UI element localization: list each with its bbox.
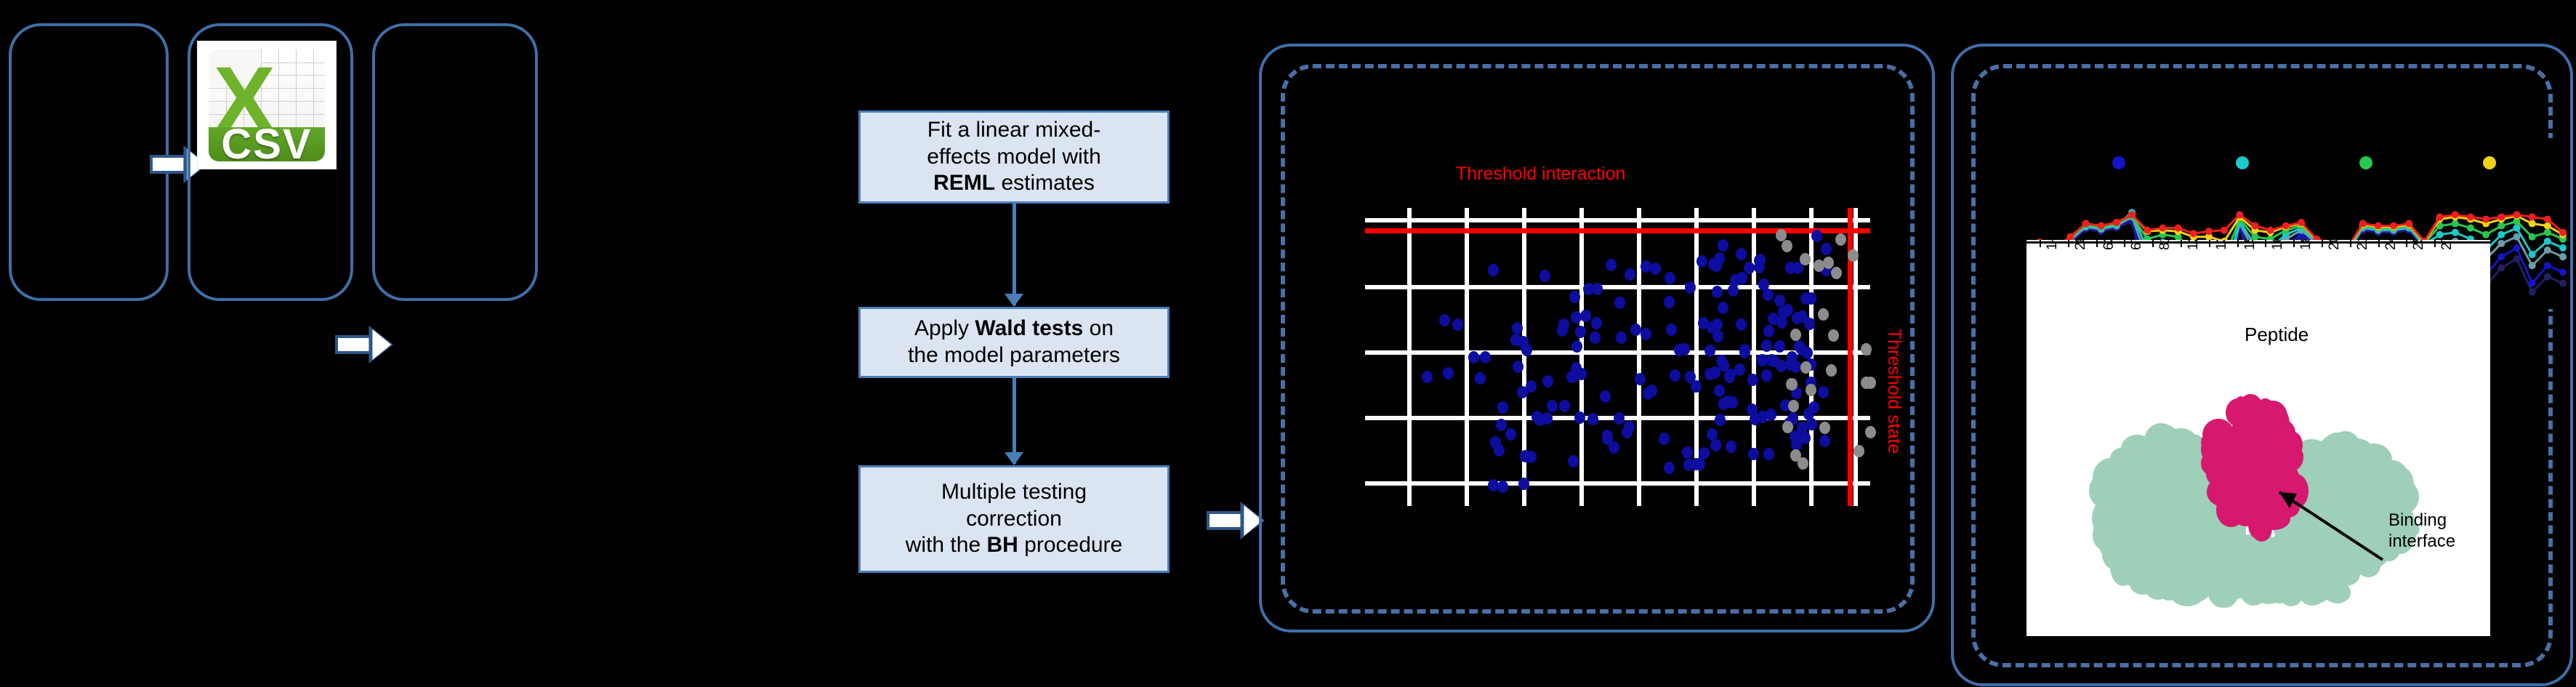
- chart-series-point: [2159, 225, 2166, 232]
- scatter-point: [1818, 308, 1829, 321]
- peptide-axis-tick: [2068, 240, 2069, 247]
- scatter-point: [1704, 345, 1715, 357]
- scatter-point: [1761, 369, 1772, 382]
- chart-series-point: [2544, 246, 2551, 254]
- scatter-point: [1571, 362, 1582, 374]
- scatter-point: [1750, 413, 1760, 425]
- binding-label-line2: interface: [2388, 531, 2455, 553]
- scatter-point: [1547, 400, 1558, 412]
- scatter-point: [1518, 478, 1529, 490]
- bh-post: procedure: [1018, 533, 1122, 557]
- scatter-point: [1517, 386, 1528, 398]
- scatter-point: [1800, 361, 1811, 374]
- scatter-point: [1531, 411, 1542, 423]
- peptide-axis-title: Peptide: [2245, 324, 2309, 346]
- chart-series-point: [2559, 280, 2567, 287]
- scatter-point: [1682, 446, 1693, 459]
- chart-series-point: [2267, 227, 2274, 234]
- scatter-point: [1580, 310, 1591, 322]
- scatter-point: [1814, 260, 1824, 272]
- scatter-point: [1670, 369, 1681, 382]
- arrow-shaft: [1207, 511, 1243, 530]
- scatter-point: [1569, 291, 1580, 303]
- scatter-point: [1714, 252, 1725, 265]
- chart-series-point: [2452, 220, 2459, 228]
- chart-series-point: [2497, 240, 2505, 247]
- arrow-shaft: [150, 155, 186, 174]
- peptide-axis-label: 218-237: [2355, 240, 2371, 250]
- chart-series-point: [2529, 262, 2536, 269]
- scatter-point: [1592, 283, 1603, 295]
- scatter-point: [1714, 385, 1725, 397]
- scatter-point: [1782, 421, 1793, 433]
- scatter-point: [1754, 261, 1765, 273]
- peptide-axis-label: 28-44: [2073, 240, 2089, 250]
- scatter-point: [1616, 332, 1627, 344]
- scatter-point: [1763, 325, 1774, 337]
- chart-series-point: [2482, 231, 2490, 238]
- figure-canvas: X CSV Fit a linear mixed- effects model …: [0, 0, 2576, 687]
- reml-bold: REML: [933, 171, 995, 195]
- scatter-point: [1664, 462, 1675, 474]
- scatter-point: [1587, 413, 1598, 425]
- connector-arrowhead-bh: [1005, 452, 1023, 465]
- chart-series-point: [2529, 251, 2536, 258]
- chart-series-point: [2436, 213, 2444, 220]
- chart-series-point: [2359, 220, 2367, 228]
- chart-series-point: [2221, 227, 2228, 234]
- scatter-point: [1787, 378, 1798, 390]
- chart-series-point: [2529, 233, 2536, 241]
- threshold-interaction-label: Threshold interaction: [1456, 164, 1625, 185]
- scatter-point: [1774, 340, 1785, 353]
- chart-series-point: [2544, 262, 2551, 269]
- peptide-axis-label: 200-214: [2327, 240, 2343, 250]
- scatter-point: [1480, 351, 1491, 363]
- scatter-point: [1790, 329, 1801, 341]
- scatter-point: [1606, 259, 1617, 271]
- chart-series-point: [2098, 222, 2105, 230]
- reml-line-1: Fit a linear mixed-: [927, 118, 1100, 142]
- csv-icon-body: X CSV: [209, 49, 325, 161]
- binding-label-line1: Binding: [2388, 510, 2455, 531]
- scatter-point: [1664, 296, 1675, 308]
- threshold-scatter-plot: [1365, 208, 1870, 506]
- chart-series-point: [2497, 213, 2505, 220]
- chart-series-point: [2082, 220, 2090, 228]
- chart-series-point: [2544, 229, 2551, 236]
- scatter-point: [1712, 286, 1723, 298]
- wald-bold: Wald tests: [975, 316, 1083, 340]
- scatter-point: [1497, 401, 1508, 414]
- scatter-point: [1748, 448, 1759, 460]
- chart-series-point: [2452, 211, 2459, 218]
- chart-series-point: [2236, 211, 2243, 218]
- scatter-point: [1744, 262, 1755, 274]
- stage-input-box: [9, 23, 169, 301]
- chart-series-point: [2559, 268, 2567, 276]
- chart-series-point: [2452, 229, 2459, 236]
- scatter-point: [1439, 314, 1450, 326]
- scatter-point: [1826, 364, 1837, 377]
- peptide-axis-label: 277-284: [2439, 240, 2455, 250]
- chart-series-point: [2113, 219, 2120, 226]
- scatter-point: [1696, 255, 1707, 268]
- scatter-point: [1776, 316, 1787, 329]
- chart-series-point: [2436, 231, 2444, 238]
- chart-series-point: [2513, 244, 2520, 252]
- scatter-point: [1574, 411, 1585, 424]
- chart-series-point: [2467, 213, 2474, 220]
- scatter-point: [1848, 249, 1859, 262]
- peptide-axis-label: 1-15: [2045, 240, 2061, 250]
- connector-wald-to-bh: [1013, 378, 1016, 464]
- scatter-point: [1512, 322, 1523, 334]
- scatter-point: [1763, 448, 1774, 460]
- reml-line-3-tail: estimates: [995, 171, 1095, 195]
- scatter-point: [1819, 435, 1830, 447]
- scatter-point: [1790, 449, 1801, 462]
- scatter-point: [1823, 257, 1834, 269]
- wald-line-2: the model parameters: [908, 343, 1120, 367]
- connector-reml-to-wald: [1013, 204, 1016, 305]
- peptide-axis-label: 167-180: [2270, 240, 2286, 250]
- scatter-point: [1497, 481, 1508, 493]
- chart-series-point: [2529, 213, 2536, 220]
- chart-series-point: [2513, 211, 2520, 218]
- scatter-point: [1614, 412, 1625, 425]
- peptide-axis-label: 67-75: [2129, 240, 2145, 250]
- scatter-point: [1641, 328, 1651, 340]
- scatter-point: [1505, 428, 1516, 441]
- chart-series-point: [2544, 222, 2551, 230]
- bh-bold: BH: [986, 533, 1018, 557]
- arrow-head-fill: [372, 329, 391, 360]
- scatter-point: [1718, 239, 1728, 252]
- chart-series-point: [2544, 273, 2551, 281]
- scatter-point: [1542, 375, 1553, 387]
- scatter-point: [1747, 374, 1758, 386]
- scatter-point: [1800, 292, 1811, 305]
- protein-surface: [2070, 360, 2448, 607]
- peptide-axis-label: 122-129: [2186, 240, 2202, 250]
- scatter-point: [1716, 355, 1727, 367]
- peptide-axis-tick: [2152, 240, 2154, 247]
- peptide-axis-tick: [2181, 240, 2182, 247]
- scatter-point: [1452, 318, 1463, 331]
- chart-series-point: [2482, 215, 2490, 222]
- peptide-axis-tick: [2293, 240, 2295, 247]
- step-box-bh-text: Multiple testing correction with the BH …: [906, 479, 1123, 559]
- scatter-point: [1659, 433, 1670, 445]
- scatter-point: [1496, 419, 1507, 431]
- peptide-axis-tick: [2406, 240, 2407, 247]
- scatter-point: [1802, 347, 1813, 359]
- scatter-point: [1422, 371, 1433, 383]
- scatter-point: [1835, 233, 1846, 246]
- scatter-point: [1806, 384, 1816, 396]
- csv-band-label: CSV: [221, 120, 312, 161]
- peptide-axis-tick: [2265, 240, 2266, 247]
- chart-series-point: [2544, 215, 2551, 222]
- step-box-wald: Apply Wald tests on the model parameters: [858, 307, 1170, 378]
- connector-arrowhead-wald: [1005, 294, 1023, 307]
- scatter-point: [1591, 317, 1602, 329]
- chart-series-point: [2298, 219, 2305, 226]
- chart-series-point: [2144, 227, 2151, 234]
- scatter-point: [1475, 372, 1486, 385]
- scatter-point: [1575, 326, 1586, 338]
- protein-structure-card: 0.0 1-1528-4463-7367-7581-101122-129135-…: [2026, 240, 2490, 636]
- chart-series-point: [2282, 222, 2290, 230]
- chart-series-point: [2175, 225, 2182, 232]
- chart-series-point: [2128, 211, 2136, 218]
- step-box-wald-text: Apply Wald tests on the model parameters: [908, 316, 1120, 369]
- scatter-point: [1804, 318, 1815, 330]
- peptide-axis-label: 63-73: [2101, 240, 2117, 250]
- scatter-point: [1559, 400, 1570, 412]
- chart-series-point: [2390, 222, 2397, 230]
- scatter-point: [1736, 318, 1747, 331]
- bh-pre: with the: [906, 533, 987, 557]
- chart-series-point: [2529, 220, 2536, 228]
- scatter-point: [1650, 262, 1661, 275]
- scatter-point: [1800, 253, 1811, 265]
- step-box-reml-text: Fit a linear mixed- effects model with R…: [927, 117, 1101, 197]
- scatter-point: [1761, 340, 1772, 352]
- stage-analysis-box: [372, 23, 538, 301]
- wald-post: on: [1083, 316, 1114, 340]
- scatter-point: [1635, 373, 1646, 385]
- scatter-point: [1643, 387, 1654, 400]
- scatter-point: [1443, 367, 1454, 379]
- arrow-model-to-results: [1207, 502, 1265, 539]
- scatter-point: [1788, 400, 1799, 412]
- scatter-point: [1539, 270, 1550, 282]
- peptide-axis-label: 158-166: [2242, 240, 2258, 250]
- scatter-point: [1710, 439, 1721, 451]
- peptide-axis-tick: [2350, 240, 2351, 247]
- scatter-point: [1736, 248, 1747, 260]
- scatter-point: [1715, 414, 1726, 426]
- peptide-axis-label: 81-101: [2157, 240, 2173, 250]
- scatter-point: [1757, 354, 1768, 366]
- scatter-point: [1831, 267, 1842, 279]
- peptide-axis-label: 135-144: [2214, 240, 2230, 250]
- bh-line-1: Multiple testing: [941, 480, 1087, 504]
- chart-series-point: [2544, 238, 2551, 245]
- scatter-point: [1685, 281, 1696, 294]
- scatter-point: [1468, 351, 1479, 363]
- threshold-state-label: Threshold state: [1883, 329, 1904, 454]
- scatter-point: [1513, 361, 1524, 373]
- scatter-point: [1600, 390, 1611, 403]
- peptide-axis-tick: [2434, 240, 2436, 247]
- scatter-point: [1614, 297, 1625, 309]
- bh-line-2: correction: [966, 507, 1062, 531]
- scatter-point: [1558, 318, 1569, 331]
- chart-series-point: [2251, 222, 2258, 230]
- step-box-reml: Fit a linear mixed- effects model with R…: [858, 111, 1170, 204]
- chart-series-point: [2497, 264, 2505, 271]
- scatter-point: [1865, 426, 1876, 438]
- peptide-axis-tick: [2040, 240, 2041, 247]
- chart-series-point: [2497, 253, 2505, 260]
- scatter-point: [1630, 324, 1641, 336]
- scatter-point: [1811, 230, 1822, 242]
- reml-line-2: effects model with: [927, 145, 1101, 169]
- peptide-axis-tick: [2322, 240, 2323, 247]
- scatter-point: [1622, 426, 1633, 438]
- scatter-point: [1718, 302, 1728, 314]
- peptide-axis-tick: [2237, 240, 2239, 247]
- csv-x-letter: X: [214, 54, 265, 112]
- peptide-axis-tick: [2378, 240, 2380, 247]
- scatter-point: [1704, 368, 1715, 380]
- scatter-point: [1819, 422, 1830, 434]
- csv-file-icon: X CSV: [198, 41, 336, 169]
- scatter-point: [1787, 351, 1798, 363]
- peptide-axis-label: 241-257: [2383, 240, 2399, 250]
- chart-series-point: [2375, 222, 2382, 230]
- scatter-point: [1828, 329, 1839, 342]
- threshold-interaction-line: [1365, 228, 1870, 233]
- scatter-point: [1734, 363, 1745, 376]
- scatter-point: [1782, 240, 1792, 252]
- chart-series-point: [2205, 228, 2213, 235]
- scatter-point: [1818, 386, 1829, 398]
- scatter-point: [1806, 418, 1817, 430]
- binding-arrow: [2070, 360, 2448, 607]
- scatter-point: [1861, 343, 1872, 355]
- scatter-point: [1568, 455, 1579, 467]
- chart-series-point: [2513, 225, 2520, 232]
- scatter-point: [1488, 264, 1499, 276]
- scatter-point: [1808, 401, 1819, 414]
- chart-series-point: [2405, 220, 2412, 228]
- scatter-point: [1821, 243, 1832, 255]
- arrow-csv-to-model: [335, 326, 393, 363]
- scatter-point: [1691, 380, 1702, 393]
- chart-series-point: [2467, 225, 2474, 232]
- peptide-axis-tick: [2124, 240, 2125, 247]
- chart-series-point: [2529, 289, 2536, 296]
- scatter-point: [1727, 396, 1738, 409]
- scatter-point: [1726, 441, 1736, 453]
- peptide-axis-label: 184-199: [2298, 240, 2314, 250]
- step-box-bh: Multiple testing correction with the BH …: [858, 465, 1170, 573]
- scatter-point: [1590, 332, 1601, 344]
- scatter-point: [1707, 428, 1718, 441]
- scatter-point: [1758, 278, 1769, 291]
- binding-interface-label: Binding interface: [2388, 510, 2455, 553]
- scatter-point: [1518, 336, 1529, 348]
- scatter-point: [1666, 324, 1677, 336]
- chart-series-point: [2497, 231, 2505, 238]
- peptide-axis-tick: [2209, 240, 2210, 247]
- chart-series-point: [2559, 253, 2567, 260]
- scatter-point: [1792, 435, 1803, 447]
- peptide-axis-tick: [2096, 240, 2098, 247]
- csv-label-band: CSV: [209, 127, 325, 161]
- arrow-shaft: [335, 335, 371, 354]
- chart-series-point: [2559, 244, 2567, 252]
- wald-pre: Apply: [914, 316, 975, 340]
- scatter-point: [1739, 346, 1750, 358]
- chart-series-point: [2190, 230, 2197, 237]
- chart-series-point: [2559, 229, 2567, 236]
- scatter-point: [1699, 447, 1710, 459]
- chart-series-point: [2529, 280, 2536, 287]
- scatter-point: [1665, 272, 1675, 284]
- scatter-point: [1625, 268, 1635, 281]
- peptide-axis-label: 258-266: [2411, 240, 2427, 250]
- chart-series-point: [2497, 222, 2505, 230]
- scatter-point: [1853, 445, 1864, 457]
